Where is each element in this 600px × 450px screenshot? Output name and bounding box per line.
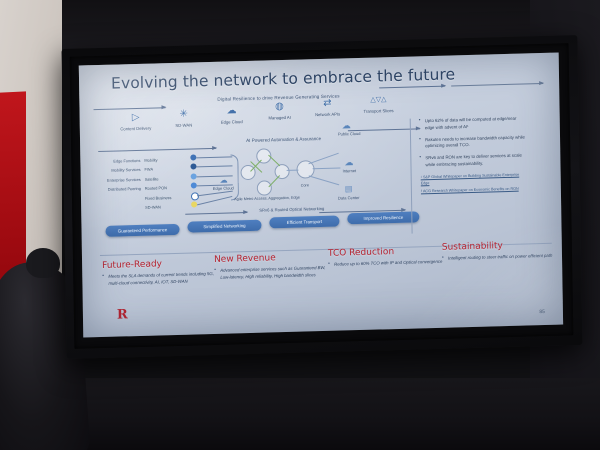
access-sd-wan: SD-WAN — [145, 202, 189, 213]
value-prop-bullet: Reduce up to 60% TCO with IP and Optical… — [328, 259, 446, 269]
metro-group-label: Agile Metro Access, Aggregation, Edge — [231, 196, 303, 204]
slide-title: Evolving the network to embrace the futu… — [111, 65, 455, 92]
access-type-list: Mobility FWA Satellite Routed PON Fixed … — [144, 155, 189, 213]
access-group-brace — [230, 154, 239, 200]
footnote-link-1[interactable]: ¹ S&P Global Whitepaper on Building Sust… — [421, 172, 527, 187]
datacenter-icon: ▤ — [345, 184, 353, 193]
pill-guaranteed-performance[interactable]: Guaranteed Performance — [105, 224, 179, 237]
connector-5 — [197, 191, 233, 197]
person-head — [26, 248, 60, 278]
value-prop-body: Reduce up to 60% TCO with IP and Optical… — [334, 259, 446, 269]
access-dot-fixed-business — [191, 192, 199, 200]
graph-edge-to-internet — [313, 167, 341, 169]
metro-node-c — [257, 180, 272, 195]
value-prop-body: Meets the SLA demands of current trends … — [108, 271, 220, 287]
service-caption: Transport Slices — [351, 108, 407, 115]
value-prop-heading: New Revenue — [214, 252, 332, 265]
public-cloud-caption: Public Cloud — [338, 131, 361, 137]
footnote-link-2[interactable]: ² ACG Research Whitepaper on Economic Be… — [421, 186, 527, 195]
value-prop-heading: Future-Ready — [102, 258, 220, 271]
srv6-ron-label: SRv6 & Routed Optical Networking — [259, 206, 324, 213]
value-prop-future-ready: Future-Ready Meets the SLA demands of cu… — [102, 258, 220, 287]
automation-arrow-left — [98, 148, 216, 152]
edge-function-label-column: Edge Functions Mobility Services Enterpr… — [92, 156, 141, 195]
connector-6 — [197, 196, 232, 205]
service-transport-slices: △▽△ Transport Slices — [350, 94, 406, 115]
title-underline-arrow — [451, 83, 543, 86]
srv6-arrow-left — [185, 212, 247, 215]
insight-text: Rakuten needs to increase bandwidth capa… — [425, 134, 526, 150]
display-bezel: Evolving the network to embrace the futu… — [62, 35, 583, 359]
value-prop-bullet: Advanced enterprise services such as Gua… — [214, 265, 332, 281]
value-prop-bullet: Intelligent routing to steer traffic on … — [442, 253, 560, 263]
pill-efficient-transport[interactable]: Efficient Transport — [269, 216, 339, 229]
slide-page-number: 85 — [539, 309, 545, 315]
datacenter-caption: Data Center — [338, 195, 360, 201]
floor-area — [0, 378, 600, 450]
banner-arrow-topright — [379, 86, 445, 89]
api-exchange-icon: ⇄ — [299, 97, 355, 112]
label-distributed-peering: Distributed Peering — [93, 184, 141, 195]
public-cloud-icon: ☁ — [342, 120, 351, 131]
core-label: Core — [289, 183, 321, 188]
connector-2 — [196, 165, 232, 167]
value-prop-body: Advanced enterprise services such as Gua… — [220, 265, 332, 281]
edge-cloud-caption: Edge Cloud — [213, 185, 234, 191]
pill-improved-resilience[interactable]: Improved Resilience — [347, 211, 419, 224]
rakuten-logo: R — [117, 307, 130, 322]
insight-text: SRv6 and RON are key to deliver services… — [425, 153, 526, 169]
ai-automation-label: AI Powered Automation & Assurance — [246, 136, 321, 143]
service-network-apis: ⇄ Network APIs — [299, 97, 355, 118]
connector-1 — [196, 156, 232, 158]
insight-item: Upto 62% of data will be computed at edg… — [418, 115, 526, 131]
service-caption: Network APIs — [300, 111, 356, 118]
graph-edge-to-cloud — [308, 153, 339, 165]
edge-cloud-icon: ☁ — [220, 176, 228, 185]
value-prop-body: Intelligent routing to steer traffic on … — [448, 253, 560, 263]
graph-edge-4 — [268, 175, 280, 188]
insight-item: Rakuten needs to increase bandwidth capa… — [418, 134, 526, 150]
value-prop-tco-reduction: TCO Reduction Reduce up to 60% TCO with … — [328, 246, 446, 269]
value-prop-new-revenue: New Revenue Advanced enterprise services… — [214, 252, 332, 281]
value-prop-bullet: Meets the SLA demands of current trends … — [102, 271, 220, 287]
insight-text: Upto 62% of data will be computed at edg… — [425, 115, 526, 131]
internet-cloud-icon: ☁ — [344, 157, 353, 168]
internet-caption: Internet — [343, 168, 357, 173]
value-prop-heading: Sustainability — [442, 240, 560, 253]
value-prop-heading: TCO Reduction — [328, 246, 446, 259]
presentation-photo: Evolving the network to embrace the futu… — [0, 0, 600, 450]
insight-item: SRv6 and RON are key to deliver services… — [418, 153, 526, 169]
slide-surface: Evolving the network to embrace the futu… — [79, 53, 563, 338]
pill-simplified-networking[interactable]: Simplified Networking — [187, 220, 261, 233]
value-prop-sustainability: Sustainability Intelligent routing to st… — [442, 240, 560, 263]
display-inner-frame: Evolving the network to embrace the futu… — [70, 43, 574, 348]
slices-icon: △▽△ — [350, 94, 406, 109]
insight-bullet-list: Upto 62% of data will be computed at edg… — [418, 115, 527, 194]
